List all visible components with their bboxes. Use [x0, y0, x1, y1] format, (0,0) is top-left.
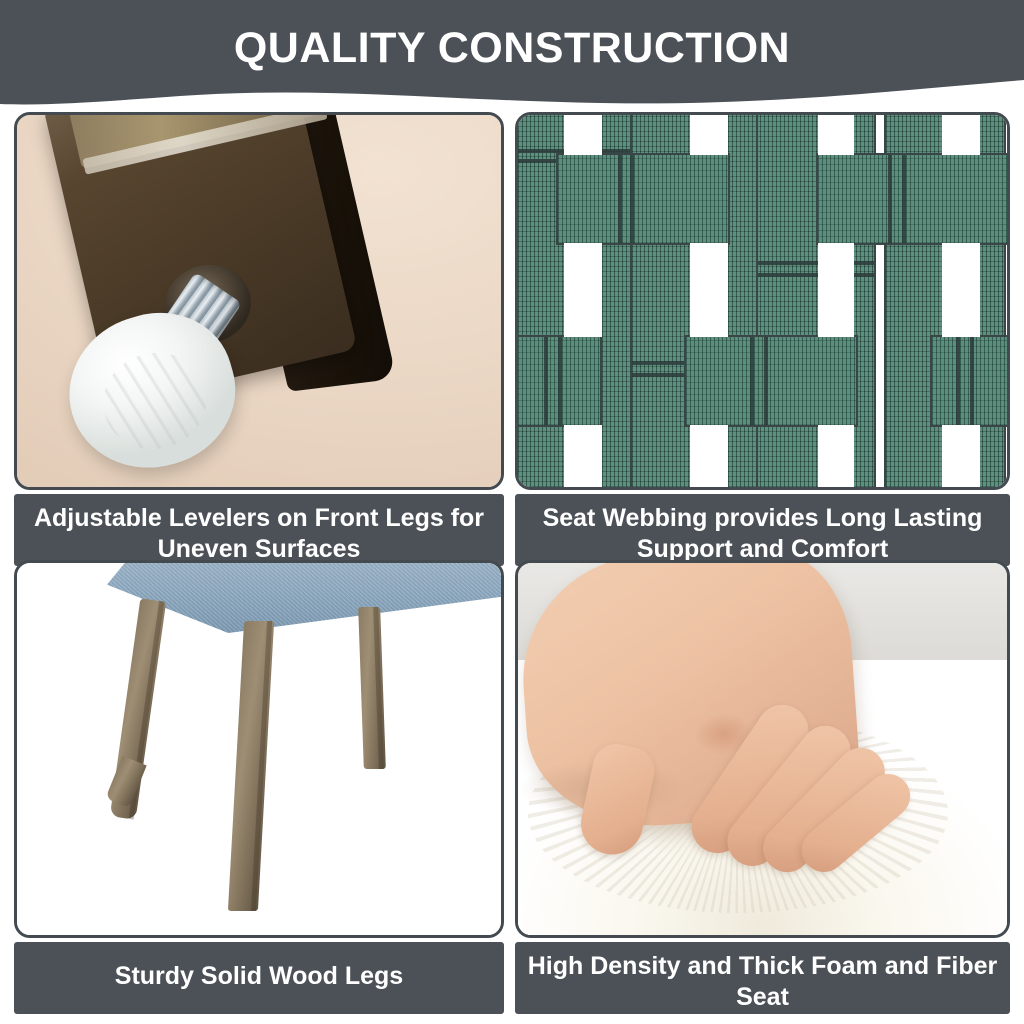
feature-panel-seat-webbing: Seat Webbing provides Long Lasting Suppo…: [515, 112, 1010, 554]
photo-foam-fiber-seat: [515, 560, 1010, 938]
webbing-strap-horizontal: [515, 337, 600, 425]
webbing-gap: [942, 425, 980, 490]
feature-panel-solid-wood-legs: Sturdy Solid Wood Legs: [14, 560, 504, 1016]
webbing-gap: [564, 112, 602, 155]
webbing-strap-horizontal: [686, 337, 856, 425]
caption-solid-wood-legs: Sturdy Solid Wood Legs: [14, 942, 504, 1014]
webbing-gap: [690, 425, 728, 490]
leveler-photo-illustration: [17, 115, 501, 487]
webbing-gap: [690, 112, 728, 155]
feature-grid: Adjustable Levelers on Front Legs for Un…: [0, 110, 1024, 1024]
webbing-gap: [564, 425, 602, 490]
foam-illustration: [518, 563, 1007, 935]
webbing-strap-horizontal: [932, 337, 1010, 425]
webbing-strap-horizontal: [818, 155, 1008, 243]
header-banner: QUALITY CONSTRUCTION: [0, 0, 1024, 112]
webbing-gap: [818, 112, 854, 155]
photo-seat-webbing: [515, 112, 1010, 490]
upholstered-seat: [107, 560, 504, 633]
caption-seat-webbing: Seat Webbing provides Long Lasting Suppo…: [515, 494, 1010, 566]
webbing-gap: [818, 425, 854, 490]
webbing-gap: [818, 243, 854, 337]
caption-adjustable-levelers: Adjustable Levelers on Front Legs for Un…: [14, 494, 504, 566]
webbing-illustration: [518, 115, 1007, 487]
photo-adjustable-levelers: [14, 112, 504, 490]
chair-leg-front: [228, 621, 274, 911]
chair-leg-rear-right: [358, 607, 386, 769]
webbing-gap: [942, 243, 980, 337]
webbing-gap: [942, 112, 980, 155]
caption-foam-fiber-seat: High Density and Thick Foam and Fiber Se…: [515, 942, 1010, 1014]
photo-solid-wood-legs: [14, 560, 504, 938]
webbing-gap: [564, 243, 602, 337]
wood-legs-illustration: [17, 563, 501, 935]
webbing-gap: [690, 243, 728, 337]
page-title: QUALITY CONSTRUCTION: [0, 24, 1024, 72]
feature-panel-adjustable-levelers: Adjustable Levelers on Front Legs for Un…: [14, 112, 504, 554]
feature-panel-foam-fiber-seat: High Density and Thick Foam and Fiber Se…: [515, 560, 1010, 1016]
webbing-strap-horizontal: [558, 155, 728, 243]
seat-fabric-texture: [107, 560, 504, 633]
